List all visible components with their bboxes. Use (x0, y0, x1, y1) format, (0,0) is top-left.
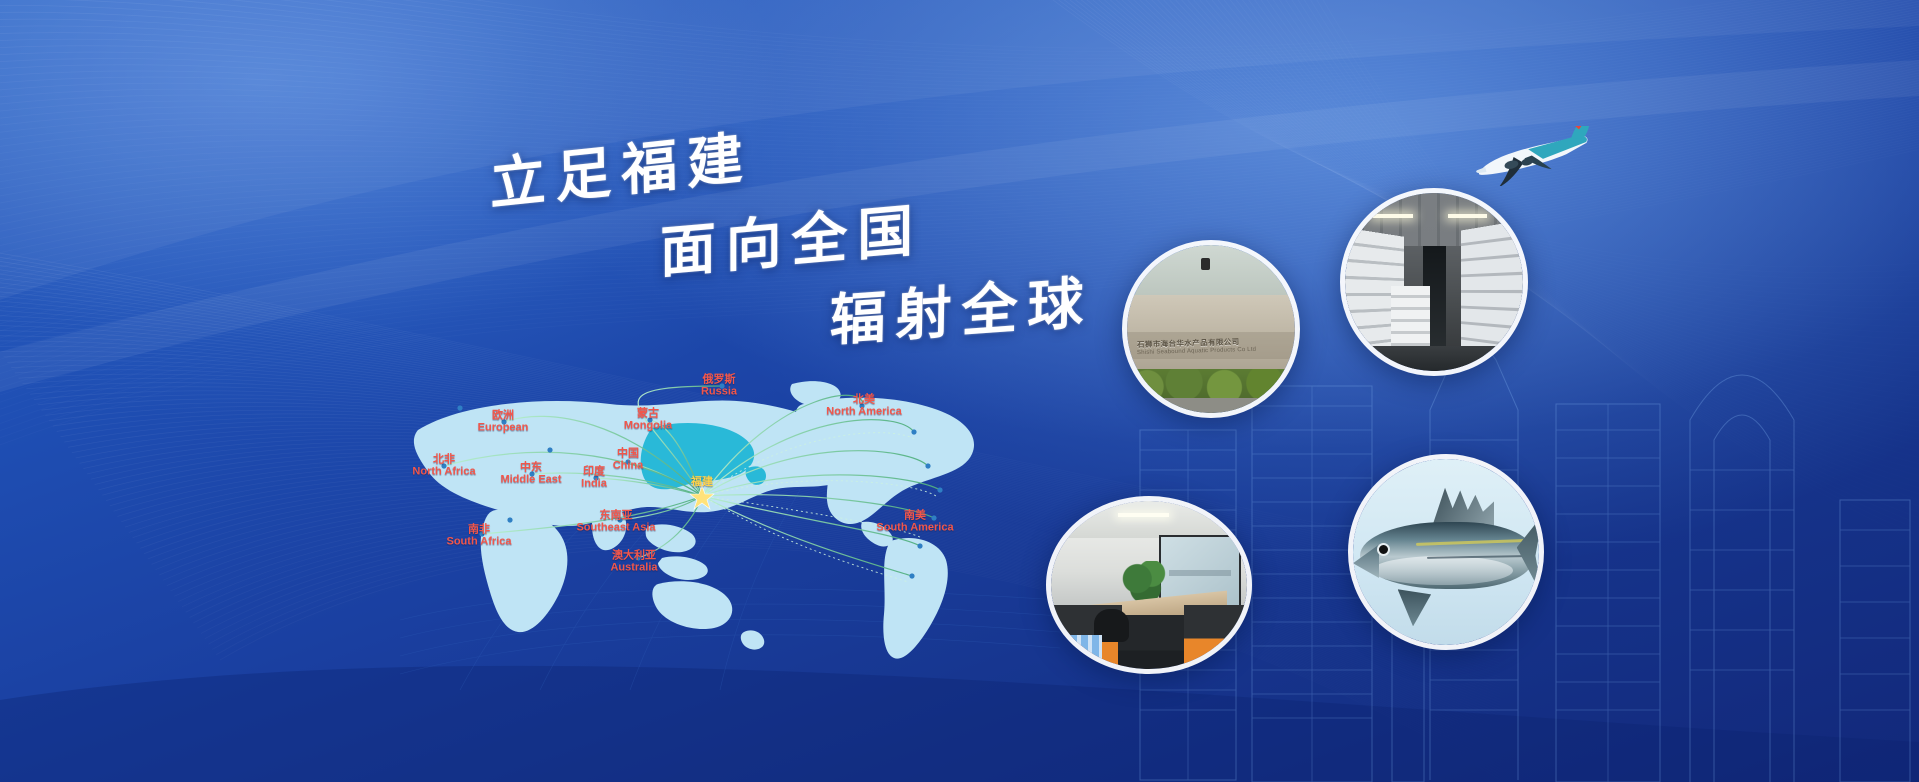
map-label-china[interactable]: 中国 China (613, 448, 644, 473)
office-cubicle (1184, 605, 1247, 669)
world-route-map: 福建 俄罗斯 Russia 蒙古 Mongolia 中国 China 欧洲 Eu… (400, 370, 1060, 690)
warehouse-scene (1345, 193, 1523, 371)
company-sign: 石狮市海台华水产品有限公司 Shishi Seabound Aquatic Pr… (1137, 329, 1285, 363)
warehouse-light (1373, 214, 1412, 218)
map-label-north-africa[interactable]: 北非 North Africa (412, 454, 475, 479)
office-scene (1051, 501, 1247, 669)
map-label-middle-east[interactable]: 中东 Middle East (500, 462, 561, 487)
photo-product-fish[interactable] (1348, 454, 1544, 650)
photo-office-interior[interactable] (1046, 496, 1252, 674)
photo-cold-storage[interactable] (1340, 188, 1528, 376)
map-label-south-africa[interactable]: 南非 South Africa (447, 524, 512, 549)
carton-pallet (1391, 286, 1430, 347)
warehouse-floor (1345, 346, 1523, 371)
photo-office-facade[interactable]: 石狮市海台华水产品有限公司 Shishi Seabound Aquatic Pr… (1122, 240, 1300, 418)
map-label-australia[interactable]: 澳大利亚 Australia (610, 550, 657, 575)
airplane-icon (1470, 126, 1598, 186)
page-title: 立足福建 面向全国 辐射全球 (470, 140, 1110, 340)
map-label-russia[interactable]: 俄罗斯 Russia (701, 374, 737, 399)
map-label-south-america[interactable]: 南美 South America (876, 510, 953, 535)
map-label-north-america[interactable]: 北美 North America (826, 394, 901, 419)
photo-office-interior-image (1051, 501, 1247, 669)
map-label-hub: 福建 (691, 476, 713, 488)
warehouse-light (1448, 214, 1487, 218)
facade-ground (1127, 398, 1295, 413)
office-light (1118, 513, 1169, 517)
photo-product-fish-image (1353, 459, 1539, 645)
photo-office-facade-image: 石狮市海台华水产品有限公司 Shishi Seabound Aquatic Pr… (1127, 245, 1295, 413)
hero-banner: 立足福建 面向全国 辐射全球 (0, 0, 1919, 782)
map-label-southeast-asia[interactable]: 东南亚 Southeast Asia (576, 510, 655, 535)
office-binders (1059, 635, 1102, 662)
office-ceiling (1051, 501, 1247, 538)
map-label-european[interactable]: 欧洲 European (478, 410, 529, 435)
fish-eye (1377, 543, 1390, 556)
map-label-india[interactable]: 印度 India (581, 466, 607, 491)
facade-lamp (1201, 258, 1210, 270)
carton-stack-right (1461, 218, 1523, 363)
map-label-mongolia[interactable]: 蒙古 Mongolia (624, 408, 672, 433)
photo-cold-storage-image (1345, 193, 1523, 371)
